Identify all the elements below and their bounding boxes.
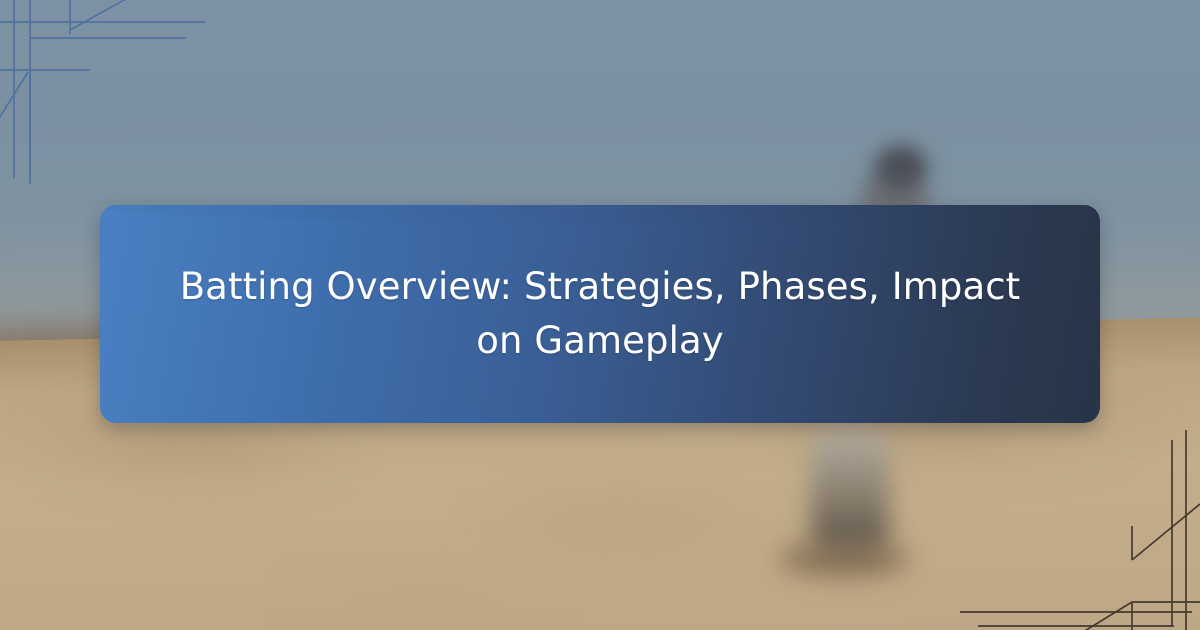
figure-head bbox=[875, 145, 927, 189]
page-title: Batting Overview: Strategies, Phases, Im… bbox=[170, 260, 1030, 367]
title-banner: Batting Overview: Strategies, Phases, Im… bbox=[100, 205, 1100, 423]
banner-arched-top-edge bbox=[100, 205, 1100, 223]
figure-legs bbox=[811, 429, 889, 549]
hero-card: Batting Overview: Strategies, Phases, Im… bbox=[0, 0, 1200, 630]
